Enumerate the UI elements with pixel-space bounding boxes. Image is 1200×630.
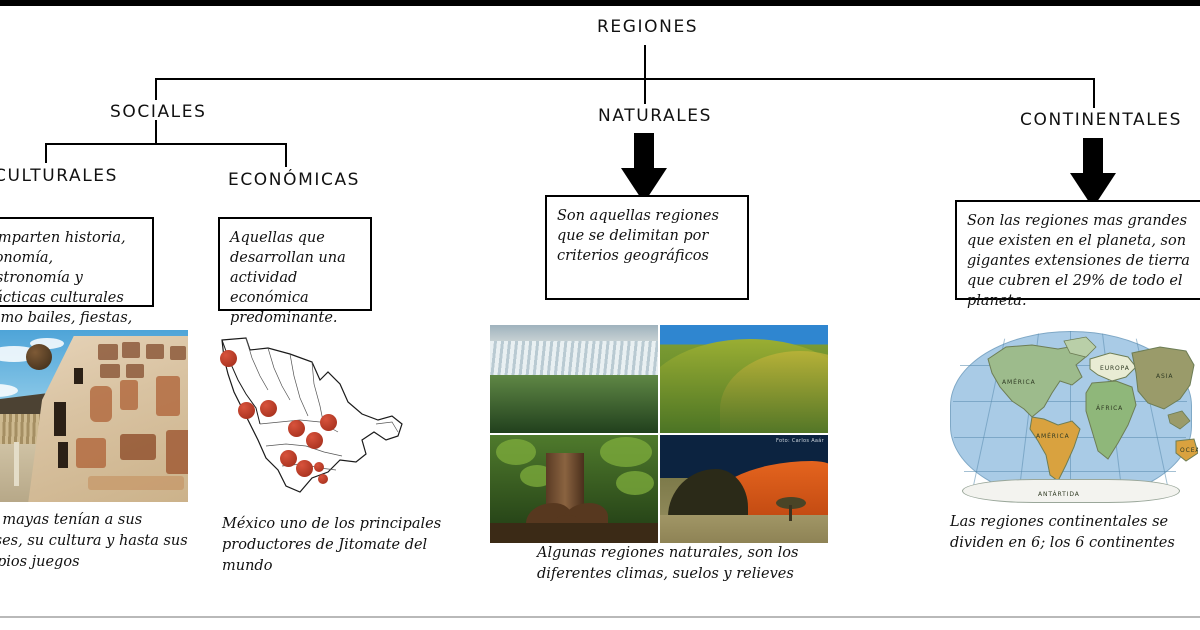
node-continentales: CONTINENTALES xyxy=(1020,110,1182,130)
node-naturales: NATURALES xyxy=(598,106,712,126)
map-marker xyxy=(318,474,328,484)
node-culturales: CULTURALES xyxy=(0,166,118,186)
world-label-africa: ÁFRICA xyxy=(1096,405,1123,412)
map-marker xyxy=(296,460,313,477)
connector-stub-naturales xyxy=(644,78,646,104)
mexico-map-tomato-producers xyxy=(216,328,406,508)
map-marker xyxy=(314,462,324,472)
nature-photo-tundra xyxy=(490,325,658,433)
connector-root-stem xyxy=(644,45,646,78)
arrow-down-naturales xyxy=(621,133,667,203)
description-box-continentales: Son las regiones mas grandes que existen… xyxy=(955,200,1200,300)
map-marker xyxy=(280,450,297,467)
node-economicas: ECONÓMICAS xyxy=(228,170,360,190)
node-sociales: SOCIALES xyxy=(110,102,207,122)
map-marker xyxy=(238,402,255,419)
world-label-antartida: ANTÁRTIDA xyxy=(1038,491,1080,498)
connector-stub-culturales xyxy=(45,143,47,163)
connector-stub-sociales xyxy=(155,78,157,100)
map-marker xyxy=(288,420,305,437)
world-label-europa: EUROPA xyxy=(1100,365,1130,372)
maya-culture-photo xyxy=(0,330,188,502)
map-marker xyxy=(306,432,323,449)
caption-culturales: Los mayas tenían a sus dioses, su cultur… xyxy=(0,510,192,573)
bottom-divider-line xyxy=(0,616,1200,618)
map-marker xyxy=(260,400,277,417)
map-marker xyxy=(320,414,337,431)
nature-photo-grid: Foto: Carlos Aaár xyxy=(490,325,828,543)
connector-sociales-horizontal xyxy=(45,143,286,145)
world-label-asia: ASIA xyxy=(1156,373,1173,380)
description-box-economicas: Aquellas que desarrollan una actividad e… xyxy=(218,217,372,311)
photo-watermark: Foto: Carlos Aaár xyxy=(776,438,824,444)
continents-svg xyxy=(940,325,1198,505)
world-map-continents: AMÉRICA AMÉRICA EUROPA ÁFRICA ASIA OCEAN… xyxy=(940,325,1198,505)
nature-photo-autumn-hills xyxy=(660,325,828,433)
world-label-oceania: OCEANÍA xyxy=(1180,447,1198,454)
caption-economicas: México uno de los principales productore… xyxy=(222,514,442,577)
map-marker xyxy=(220,350,237,367)
description-box-culturales: Comparten historia, economía, gastronomí… xyxy=(0,217,154,307)
connector-stub-continentales xyxy=(1093,78,1095,108)
nature-photo-desert: Foto: Carlos Aaár xyxy=(660,435,828,543)
world-label-america-north: AMÉRICA xyxy=(1002,379,1036,386)
caption-continentales: Las regiones continentales se dividen en… xyxy=(950,512,1200,554)
nature-photo-rainforest xyxy=(490,435,658,543)
description-box-naturales: Son aquellas regiones que se delimitan p… xyxy=(545,195,749,300)
connector-main-horizontal xyxy=(155,78,1095,80)
world-label-america-south: AMÉRICA xyxy=(1036,433,1070,440)
diagram-canvas: REGIONES SOCIALES NATURALES CONTINENTALE… xyxy=(0,0,1200,630)
caption-naturales: Algunas regiones naturales, son los dife… xyxy=(537,543,817,585)
connector-stub-economicas xyxy=(285,143,287,167)
node-regiones: REGIONES xyxy=(597,17,698,37)
top-border-bar xyxy=(0,0,1200,6)
arrow-down-continentales xyxy=(1070,138,1116,208)
connector-sociales-stem xyxy=(155,120,157,144)
